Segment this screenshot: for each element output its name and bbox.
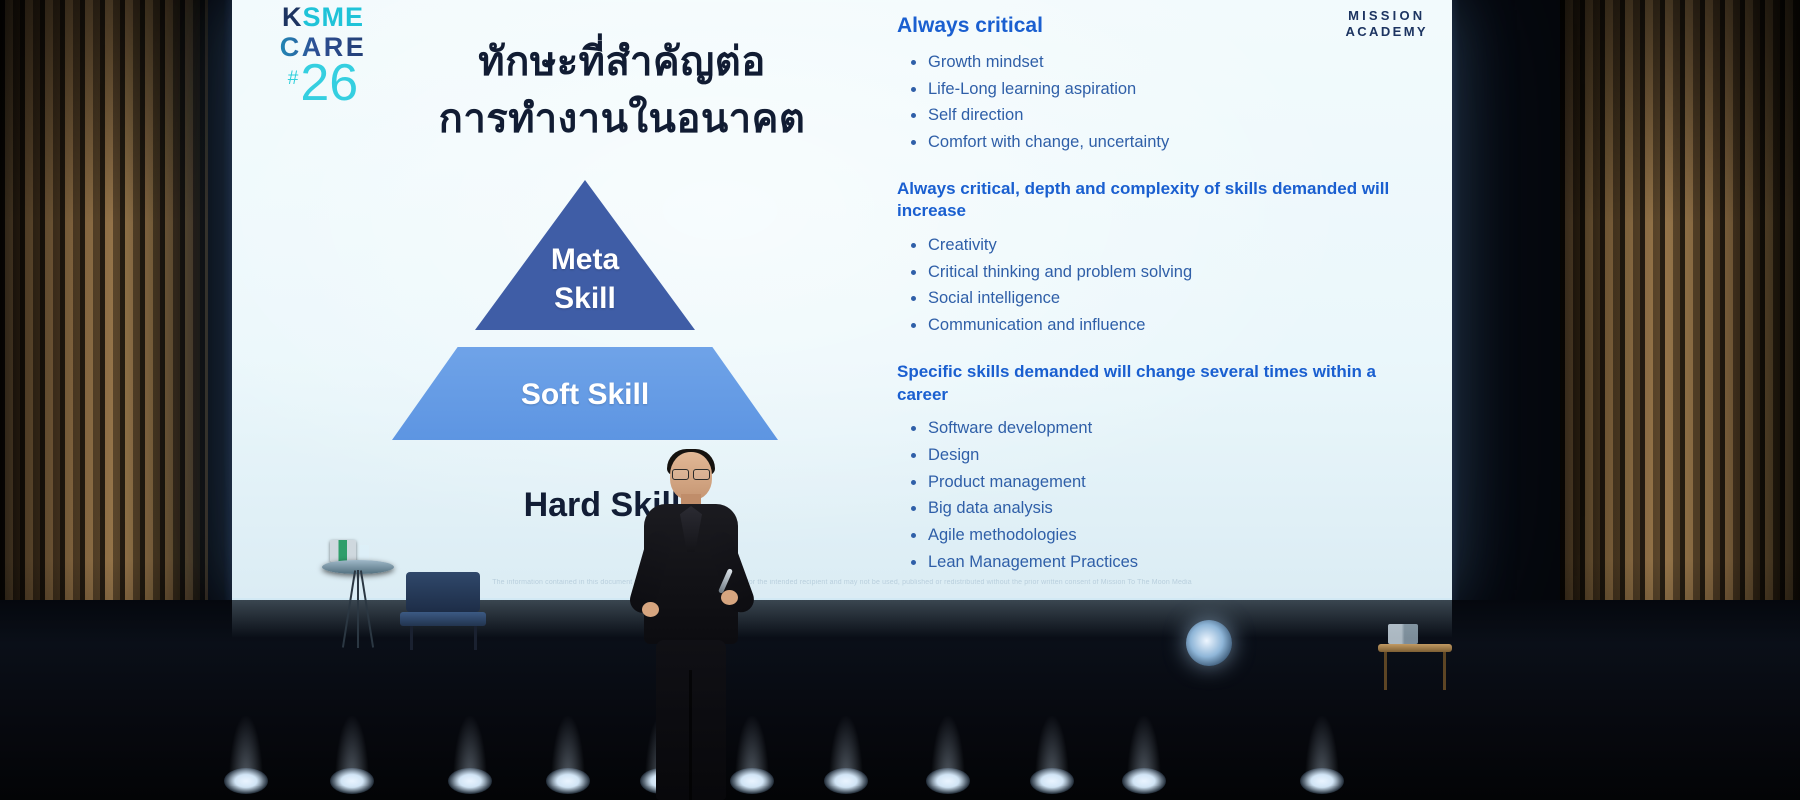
- hash-symbol: #: [288, 69, 299, 88]
- list-item: Design: [911, 442, 1427, 469]
- list-item: Growth mindset: [911, 49, 1427, 76]
- stage-footlight: [1300, 768, 1344, 794]
- stage-footlight: [448, 768, 492, 794]
- logo-text-sme: SME: [302, 2, 364, 32]
- list-item: Comfort with change, uncertainty: [911, 129, 1427, 156]
- presenter-hand-left: [642, 602, 659, 617]
- stage-footlight: [546, 768, 590, 794]
- list-item: Life-Long learning aspiration: [911, 76, 1427, 103]
- section-bullet-list: Growth mindset Life-Long learning aspira…: [897, 49, 1427, 156]
- stage-footlight: [1122, 768, 1166, 794]
- presenter-hand-right: [721, 590, 738, 605]
- chair-backrest: [406, 572, 480, 612]
- presentation-slide: KSME CARE # 26 MISSION ACADEMY ทักษะที่ส…: [232, 0, 1452, 600]
- chair-leg: [474, 626, 477, 650]
- drink-cans: [330, 540, 356, 562]
- list-item: Critical thinking and problem solving: [911, 259, 1427, 286]
- edition-number: 26: [300, 59, 358, 108]
- stage-footlight: [330, 768, 374, 794]
- side-table-top: [1378, 644, 1452, 652]
- list-item: Lean Management Practices: [911, 549, 1427, 576]
- list-item: Software development: [911, 415, 1427, 442]
- ksme-care-logo: KSME CARE # 26: [248, 4, 398, 108]
- section-heading: Always critical: [897, 12, 1427, 40]
- stage-chair: [400, 572, 486, 648]
- section-bullet-list: Software development Design Product mana…: [897, 415, 1427, 575]
- slide-title-line-2: การทำงานในอนาคต: [412, 91, 832, 148]
- pyramid-tier-hard-label: Hard Skill: [392, 486, 812, 525]
- pyramid-tier-soft-label: Soft Skill: [392, 378, 778, 412]
- logo-line-ksme: KSME: [248, 4, 398, 31]
- stage-footlight: [224, 768, 268, 794]
- list-item: Communication and influence: [911, 312, 1427, 339]
- section-heading: Specific skills demanded will change sev…: [897, 361, 1427, 406]
- slide-title-line-1: ทักษะที่สำคัญต่อ: [412, 34, 832, 91]
- presenter-legs: [656, 640, 726, 800]
- stage-footlight: [926, 768, 970, 794]
- chair-seat: [400, 612, 486, 626]
- meta-label-line-1: Meta: [475, 240, 695, 279]
- stage-footlight: [1030, 768, 1074, 794]
- skills-content-column: Always critical Growth mindset Life-Long…: [897, 12, 1427, 597]
- list-item: Agile methodologies: [911, 522, 1427, 549]
- eyeglasses-icon: [672, 469, 710, 478]
- meta-label-line-2: Skill: [475, 279, 695, 318]
- stage-footlight: [824, 768, 868, 794]
- section-always-critical: Always critical Growth mindset Life-Long…: [897, 12, 1427, 156]
- slide-title-thai: ทักษะที่สำคัญต่อ การทำงานในอนาคต: [412, 34, 832, 148]
- screen-bezel-left: [224, 0, 232, 600]
- logo-letter-k: K: [282, 2, 303, 32]
- section-specific-skills: Specific skills demanded will change sev…: [897, 361, 1427, 576]
- list-item: Creativity: [911, 232, 1427, 259]
- water-bottles: [1388, 624, 1418, 644]
- list-item: Big data analysis: [911, 495, 1427, 522]
- stage-spotlight-fixture: [1186, 620, 1232, 666]
- section-bullet-list: Creativity Critical thinking and problem…: [897, 232, 1427, 339]
- section-heading: Always critical, depth and complexity of…: [897, 178, 1427, 223]
- list-item: Product management: [911, 469, 1427, 496]
- side-table-leg: [1384, 652, 1387, 690]
- chair-leg: [410, 626, 413, 650]
- pyramid-tier-meta-label: Meta Skill: [475, 240, 695, 318]
- skills-pyramid-diagram: Meta Skill Soft Skill Hard Skill: [392, 180, 832, 480]
- logo-edition: # 26: [248, 59, 398, 108]
- side-table-leg: [1443, 652, 1446, 690]
- list-item: Social intelligence: [911, 285, 1427, 312]
- side-table-legs: [348, 570, 368, 648]
- presenter-figure: [636, 452, 746, 800]
- projection-screen: KSME CARE # 26 MISSION ACADEMY ทักษะที่ส…: [232, 0, 1452, 600]
- conference-stage-scene: KSME CARE # 26 MISSION ACADEMY ทักษะที่ส…: [0, 0, 1800, 800]
- screen-bezel-right: [1452, 0, 1460, 600]
- list-item: Self direction: [911, 102, 1427, 129]
- section-depth-complexity: Always critical, depth and complexity of…: [897, 178, 1427, 339]
